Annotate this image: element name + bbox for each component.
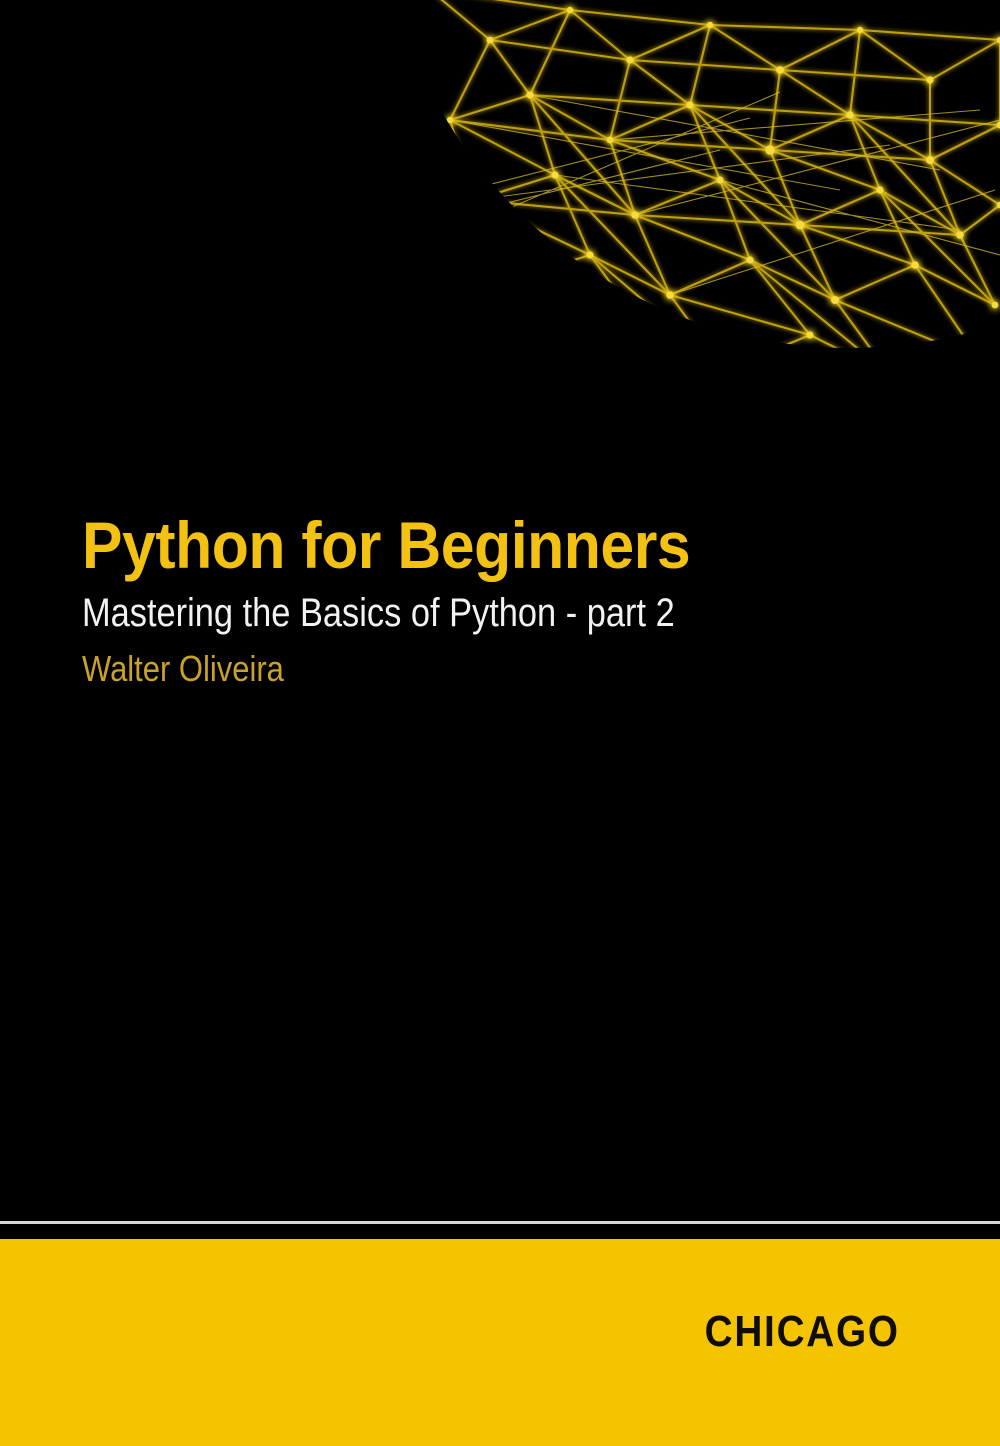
network-mesh-artwork: [420, 0, 1000, 380]
publisher-band: CHICAGO: [0, 1239, 1000, 1446]
book-subtitle: Mastering the Basics of Python - part 2: [82, 591, 804, 635]
cover-text-block: Python for Beginners Mastering the Basic…: [82, 512, 922, 689]
book-author: Walter Oliveira: [82, 649, 804, 689]
divider-rule: [0, 1221, 1000, 1224]
book-cover: Python for Beginners Mastering the Basic…: [0, 0, 1000, 1446]
book-title: Python for Beginners: [82, 512, 855, 579]
network-mesh-icon: [420, 0, 1000, 380]
publisher-name: CHICAGO: [705, 1307, 900, 1357]
